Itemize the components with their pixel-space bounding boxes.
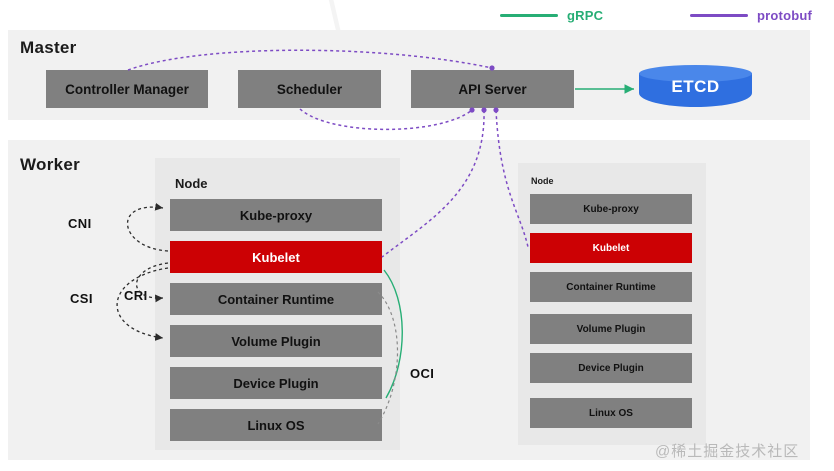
node-2-layer-kube-proxy[interactable]: Kube-proxy (530, 194, 692, 224)
node-2-layer-linux-os[interactable]: Linux OS (530, 398, 692, 428)
node-1-layer-linux-os[interactable]: Linux OS (170, 409, 382, 441)
master-component-scheduler[interactable]: Scheduler (238, 70, 381, 108)
etcd-label: ETCD (639, 77, 752, 97)
legend-label-grpc: gRPC (567, 8, 603, 23)
node-1-layer-device-plugin[interactable]: Device Plugin (170, 367, 382, 399)
interface-label-cri: CRI (124, 288, 148, 303)
worker-node-1-title: Node (175, 176, 208, 191)
legend-label-protobuf: protobuf (757, 8, 812, 23)
node-1-layer-volume-plugin[interactable]: Volume Plugin (170, 325, 382, 357)
node-1-layer-kube-proxy[interactable]: Kube-proxy (170, 199, 382, 231)
master-component-api-server[interactable]: API Server (411, 70, 574, 108)
worker-panel-title: Worker (20, 155, 80, 175)
worker-node-2-title: Node (531, 176, 554, 186)
etcd-datastore[interactable]: ETCD (639, 65, 752, 111)
interface-label-csi: CSI (70, 291, 93, 306)
node-2-layer-kubelet[interactable]: Kubelet (530, 233, 692, 263)
legend-swatch-protobuf (690, 14, 748, 17)
watermark-label: @稀土掘金技术社区 (655, 440, 799, 461)
interface-label-cni: CNI (68, 216, 92, 231)
master-panel-title: Master (20, 38, 77, 58)
master-component-controller-manager[interactable]: Controller Manager (46, 70, 208, 108)
legend-swatch-grpc (500, 14, 558, 17)
interface-label-oci: OCI (410, 366, 434, 381)
legend-item-protobuf: protobuf (690, 4, 812, 26)
diagram-canvas: ／ ／ gRPC protobuf Master Controller Mana… (0, 0, 834, 471)
node-1-layer-kubelet[interactable]: Kubelet (170, 241, 382, 273)
node-2-layer-device-plugin[interactable]: Device Plugin (530, 353, 692, 383)
node-2-layer-volume-plugin[interactable]: Volume Plugin (530, 314, 692, 344)
node-2-layer-container-runtime[interactable]: Container Runtime (530, 272, 692, 302)
legend-item-grpc: gRPC (500, 4, 603, 26)
node-1-layer-container-runtime[interactable]: Container Runtime (170, 283, 382, 315)
